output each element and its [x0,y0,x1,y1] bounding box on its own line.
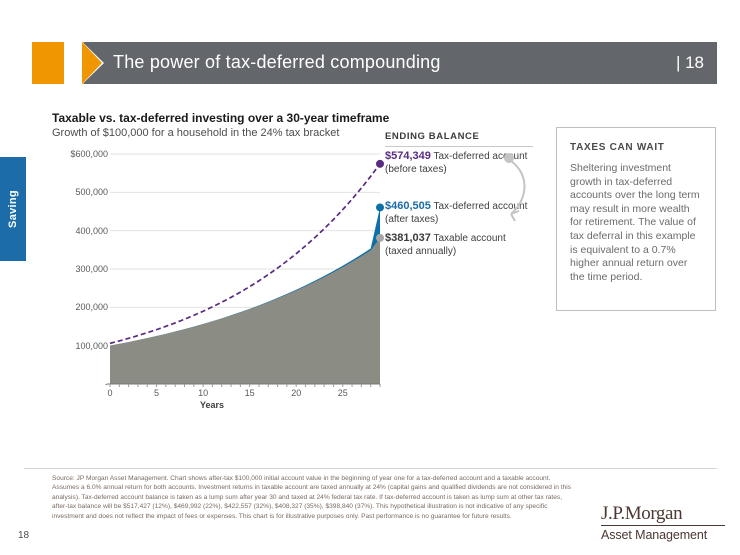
x-axis-tick-label: 10 [198,388,208,398]
slide-root: The power of tax-deferred compounding | … [0,0,740,555]
chart-subtitle: Growth of $100,000 for a household in th… [52,127,339,139]
chart-title: Taxable vs. tax-deferred investing over … [52,111,389,125]
source-note: Source: JP Morgan Asset Management. Char… [52,474,577,521]
ending-balance-heading: ENDING BALANCE [385,131,479,142]
ending-balance-amount: $460,505 [385,200,431,212]
x-axis-title: Years [200,400,224,410]
x-axis-tick-label: 5 [154,388,159,398]
x-axis-tick-label: 15 [245,388,255,398]
callout-title: TAXES CAN WAIT [570,142,702,153]
ending-balance-amount: $381,037 [385,232,431,244]
logo-tagline: Asset Management [601,528,725,542]
callout-body: Sheltering investment growth in tax-defe… [570,162,702,284]
header-page-marker: | 18 [676,53,704,73]
ending-balance-divider [385,146,533,147]
chart-plot-area: -100,000200,000300,000400,000500,000$600… [48,146,388,396]
footer-divider [24,468,717,469]
x-axis-tick-label: 25 [338,388,348,398]
page-title: The power of tax-deferred compounding [113,52,441,73]
chart-svg [48,146,388,396]
logo-wordmark: J.P.Morgan [601,504,725,526]
page-number: 18 [18,530,29,541]
sidebar-tab-saving[interactable]: Saving [0,157,26,261]
x-axis-tick-label: 0 [107,388,112,398]
curved-arrow-icon [496,150,542,230]
ending-balance-item-taxable: $381,037 Taxable account (taxed annually… [385,232,535,258]
jpmorgan-logo: J.P.Morgan Asset Management [601,504,725,542]
ending-balance-amount: $574,349 [385,150,431,162]
callout-box: TAXES CAN WAIT Sheltering investment gro… [556,127,716,311]
sidebar-tab-label: Saving [0,157,26,261]
x-axis-tick-label: 20 [291,388,301,398]
